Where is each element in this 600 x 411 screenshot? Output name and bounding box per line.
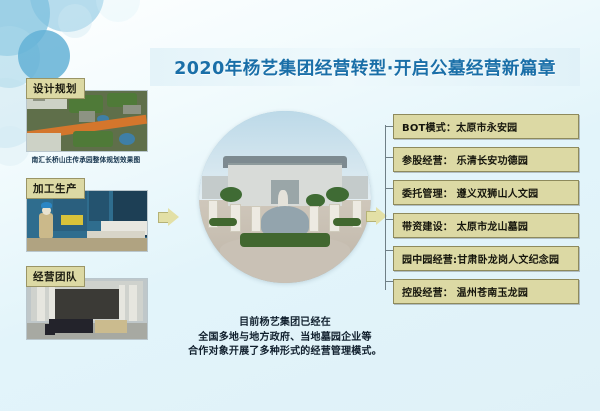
poster-canvas: 2020年杨艺集团经营转型·开启公墓经营新篇章 设计规划 南汇 [0, 0, 600, 411]
bubble-decoration-icon [96, 0, 140, 22]
project-box-park-in-park[interactable]: 园中园经营:甘肃卧龙岗人文纪念园 [393, 246, 579, 271]
bracket-stub [385, 126, 393, 127]
project-box-controlling-stake[interactable]: 控股经营： 温州苍南玉龙园 [393, 279, 579, 304]
title-banner: 2020年杨艺集团经营转型·开启公墓经营新篇章 [150, 48, 580, 86]
bracket-stub [385, 281, 393, 282]
bracket-stub [385, 219, 393, 220]
project-box-label: 控股经营： 温州苍南玉龙园 [394, 284, 528, 299]
management-team-photo [26, 278, 148, 340]
bracket-stub [385, 157, 393, 158]
project-box-label: 委托管理： 遵义双狮山人文园 [394, 185, 538, 200]
bracket-stub [385, 188, 393, 189]
aerial-master-plan-photo [26, 90, 148, 152]
project-box-funded-construction[interactable]: 带资建设： 太原市龙山墓园 [393, 213, 579, 238]
memorial-park-building-photo [199, 111, 371, 283]
card-caption: 南汇长桥山庄传承园整体规划效果图 [26, 154, 146, 164]
card-label: 设计规划 [26, 78, 85, 99]
project-box-label: 带资建设： 太原市龙山墓园 [394, 218, 528, 233]
summary-note: 目前杨艺集团已经在 全国多地与地方政府、当地墓园企业等 合作对象开展了多种形式的… [150, 316, 420, 360]
bubble-decoration-icon [18, 30, 70, 82]
project-list: BOT模式：太原市永安园 参股经营： 乐清长安功德园 委托管理： 遵义双狮山人文… [393, 114, 579, 312]
card-label: 经营团队 [26, 266, 85, 287]
bubble-decoration-icon [58, 4, 92, 38]
summary-note-line: 目前杨艺集团已经在 [150, 316, 420, 331]
project-box-equity[interactable]: 参股经营： 乐清长安功德园 [393, 147, 579, 172]
project-box-label: 园中园经营:甘肃卧龙岗人文纪念园 [394, 251, 559, 266]
left-photo-column: 设计规划 南汇长桥山庄传承园整体规划效果图 加工生产 [26, 76, 146, 352]
project-box-label: 参股经营： 乐清长安功德园 [394, 152, 528, 167]
card-design-planning: 设计规划 南汇长桥山庄传承园整体规划效果图 [26, 90, 146, 164]
summary-note-line: 全国多地与地方政府、当地墓园企业等 [150, 331, 420, 346]
bracket-stub [385, 250, 393, 251]
page-title: 2020年杨艺集团经营转型·开启公墓经营新篇章 [174, 55, 556, 80]
card-management-team: 经营团队 [26, 278, 146, 340]
card-processing-production: 加工生产 [26, 190, 146, 252]
stone-processing-photo [26, 190, 148, 252]
project-box-label: BOT模式：太原市永安园 [394, 119, 517, 134]
project-box-bot[interactable]: BOT模式：太原市永安园 [393, 114, 579, 139]
summary-note-line: 合作对象开展了多种形式的经营管理模式。 [150, 345, 420, 360]
bracket-vertical-line [385, 125, 386, 290]
card-label: 加工生产 [26, 178, 85, 199]
project-box-entrusted[interactable]: 委托管理： 遵义双狮山人文园 [393, 180, 579, 205]
